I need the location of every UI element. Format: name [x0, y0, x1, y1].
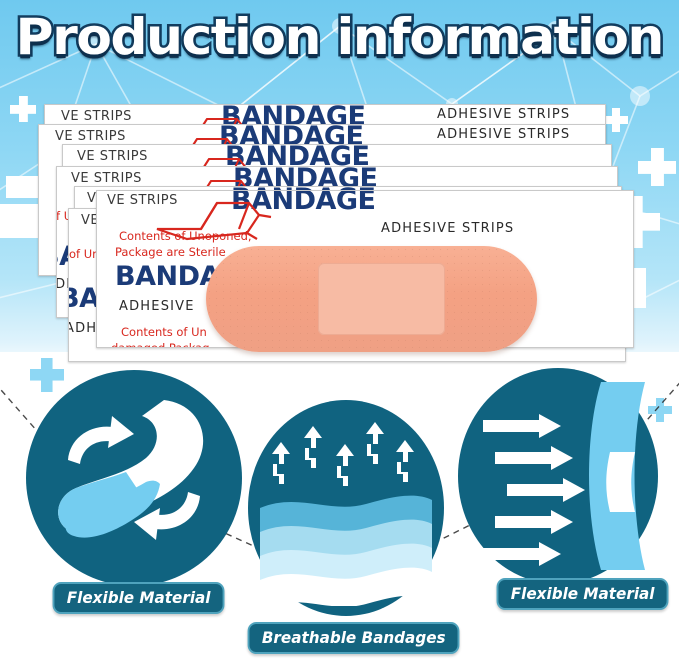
- wrapper-subtitle-text: ADHESIVE STRIPS: [437, 127, 570, 142]
- wrapper-strips-text: VE STRIPS: [55, 129, 126, 144]
- twisting-bandage-with-rotation-arrows-icon: [34, 378, 234, 578]
- wrapper-subtitle-text: ADHESIVE STRIPS: [381, 221, 514, 236]
- wrapper-contents-text-line2: damaged Packag: [111, 341, 210, 348]
- product-infographic-poster: Production information VE STRIPS BANDAGE…: [0, 0, 679, 665]
- wrapper-adhesive-text: ADHESIVE: [119, 299, 195, 314]
- feature-label-badge: Flexible Material: [497, 578, 669, 610]
- bandage-line-art-icon: [153, 195, 285, 245]
- feature-icon-disc: [248, 400, 444, 616]
- feature-icon-disc: [458, 368, 658, 584]
- adhesive-bandage-strip: [206, 246, 537, 352]
- wrapper-subtitle-text: ADHESIVE STRIPS: [437, 107, 570, 122]
- wrapper-strips-text: VE STRIPS: [61, 109, 132, 124]
- airflow-arrows-onto-flexible-strip-icon: [465, 376, 651, 576]
- feature-label-badge: Breathable Bandages: [248, 622, 460, 654]
- wrapper-contents-text-line1: Contents of Un: [121, 325, 207, 339]
- page-title: Production information: [16, 8, 663, 66]
- wrapper-strips-text: VE STRIPS: [71, 171, 142, 186]
- feature-icon-disc: [26, 370, 242, 586]
- page-title-container: Production information: [0, 8, 679, 66]
- bandage-absorbent-pad: [318, 263, 445, 335]
- feature-label-badge: Flexible Material: [53, 582, 225, 614]
- breathable-fabric-waves-with-vapor-arrows-icon: [258, 410, 434, 606]
- features-section: Flexible Material: [0, 352, 679, 665]
- wrapper-strips-text: VE STRIPS: [77, 149, 148, 164]
